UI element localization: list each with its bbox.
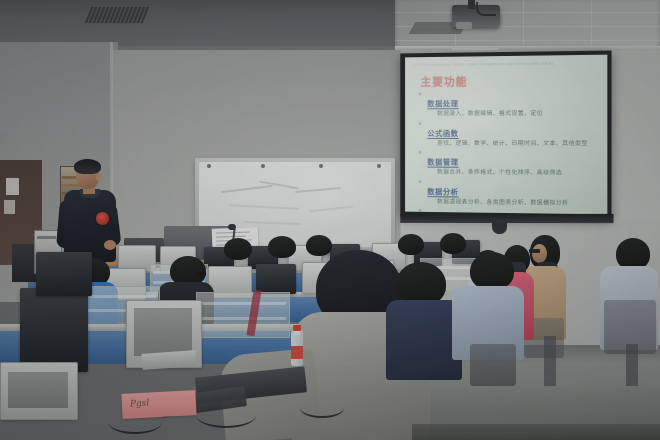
- student-head: [306, 235, 332, 256]
- slide-item-heading: 数据管理: [427, 158, 458, 168]
- bullet-icon: [419, 180, 422, 183]
- slide-title: 主要功能: [421, 73, 468, 89]
- student-seated-tan-face: [532, 244, 547, 263]
- slide-header-text: OFFICE Application Series I Data Managem…: [415, 61, 600, 67]
- presenter-shirt-logo: [96, 212, 109, 225]
- computer-tower: [12, 244, 36, 282]
- slide-item-detail: 数据合并、条件格式、个性化排序、高级筛选: [437, 169, 604, 180]
- student-head: [398, 234, 424, 255]
- slide-item-detail: 数据录入、数据编辑、格式设置、定位: [437, 110, 604, 120]
- slide-item-heading: 数据处理: [427, 99, 458, 109]
- presenter-hair: [74, 159, 101, 174]
- glasses-icon: [196, 272, 206, 276]
- wall-notice-paper: [6, 178, 19, 195]
- presenter-hand: [104, 240, 116, 250]
- slide-bullet-list: 数据处理 数据录入、数据编辑、格式设置、定位 公式函数 查找、逻辑、数学、统计、…: [419, 90, 605, 214]
- student-center-navy-body: [386, 300, 462, 380]
- sticker-text: Pgsl: [130, 399, 150, 410]
- computer-tower-slot: [37, 236, 56, 239]
- bullet-icon: [419, 93, 422, 96]
- slide-item: 数据管理 数据合并、条件格式、个性化排序、高级筛选: [419, 150, 605, 179]
- slide-item-detail: 查找、逻辑、数学、统计、日期时间、文本、其他类型: [437, 139, 604, 149]
- microphone-icon: [228, 224, 236, 230]
- water-bottle-cap: [293, 325, 301, 331]
- projection-screen: OFFICE Application Series I Data Managem…: [405, 55, 607, 215]
- glasses-icon: [529, 249, 540, 253]
- projector-lens-icon: [456, 22, 472, 29]
- slide-item-heading: 数据分析: [427, 187, 458, 197]
- presenter-ear: [96, 174, 101, 181]
- slide-item: 数据处理 数据录入、数据编辑、格式设置、定位: [419, 90, 605, 119]
- classroom-photo: OFFICE Application Series I Data Managem…: [0, 0, 660, 440]
- projector-cable: [476, 2, 496, 16]
- bullet-icon: [419, 122, 422, 125]
- ceiling-vent-icon: [85, 7, 149, 23]
- bullet-icon: [419, 209, 422, 212]
- desk-glass-partition: [196, 292, 290, 338]
- wall-notice-paper: [4, 200, 15, 214]
- floor-shadow-front: [412, 424, 660, 440]
- monitor: [20, 288, 88, 372]
- student-head: [440, 233, 466, 254]
- water-bottle-label: [291, 346, 303, 359]
- chair: [470, 344, 516, 386]
- projector-mount: [468, 0, 475, 9]
- slide-item: 公式函数 查找、逻辑、数学、统计、日期时间、文本、其他类型: [419, 120, 605, 149]
- monitor-screen: [134, 308, 192, 356]
- student-head: [268, 236, 296, 258]
- monitor: [36, 252, 92, 296]
- slide-item: 数据分析 数据透视表分析、各类图表分析、数据模拟分析: [419, 179, 605, 209]
- student-head: [224, 238, 252, 260]
- slide-item-heading: 公式函数: [427, 129, 458, 139]
- student-right-blue-head: [470, 252, 514, 290]
- bullet-icon: [419, 151, 422, 154]
- monitor-screen: [8, 372, 68, 408]
- monitor: [256, 264, 296, 294]
